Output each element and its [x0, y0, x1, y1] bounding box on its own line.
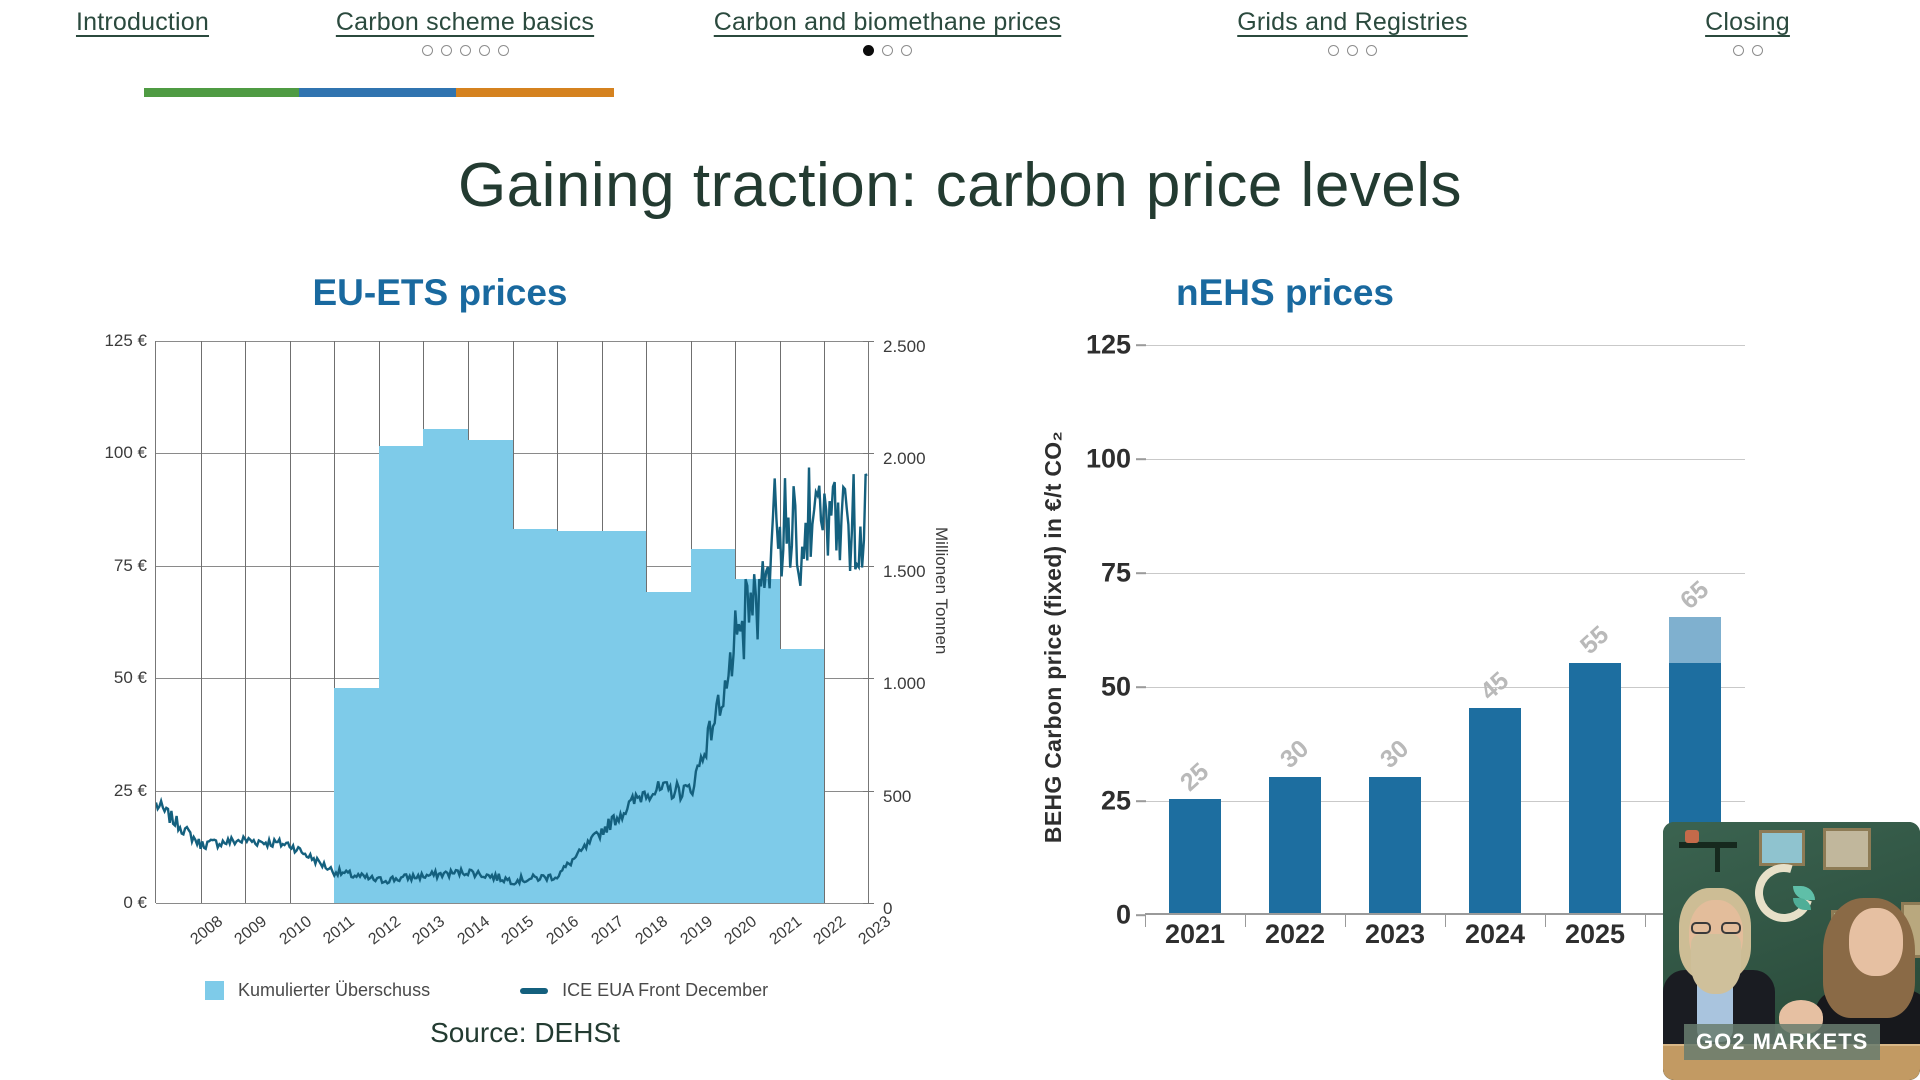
- nav-item-carbon-and-biomethane-prices[interactable]: Carbon and biomethane prices: [645, 8, 1130, 56]
- eu-y-tick-label-left: 75 €: [65, 556, 147, 576]
- shelf-leg-decor: [1715, 846, 1720, 872]
- nehs-y-tickmark: [1136, 572, 1146, 574]
- nehs-x-tick-label: 2024: [1465, 919, 1525, 950]
- eu-ets-source-note: Source: DEHSt: [205, 1017, 845, 1049]
- nav-dots-carbon-scheme-basics: [285, 45, 645, 56]
- nav-link-label[interactable]: Introduction: [0, 8, 285, 37]
- nehs-x-tick-label: 2021: [1165, 919, 1225, 950]
- nehs-bar-value-label: 45: [1475, 666, 1515, 706]
- nehs-x-tickmark: [1545, 915, 1546, 927]
- eu-y-tick-label-left: 100 €: [65, 443, 147, 463]
- eu-right-tickmark: [863, 791, 874, 792]
- eu-ets-right-axis: Millionen Tonnen 05001.0001.5002.0002.50…: [868, 341, 989, 903]
- eu-right-tickmark: [863, 453, 874, 454]
- nav-link-label[interactable]: Grids and Registries: [1130, 8, 1575, 37]
- nehs-x-tick-label: 2022: [1265, 919, 1325, 950]
- legend-swatch-kumulierter-ueberschuss: [205, 981, 224, 1000]
- nav-dot-active[interactable]: [863, 45, 874, 56]
- eu-ets-chart-title: EU-ETS prices: [190, 272, 690, 314]
- eu-x-tick-label: 2013: [410, 913, 449, 949]
- eu-y-tick-label-right: 2.000: [883, 449, 926, 469]
- eu-right-tickmark: [863, 903, 874, 904]
- eu-price-line: [156, 468, 867, 885]
- nehs-bar-value-label: 65: [1675, 575, 1715, 615]
- nehs-gridline-h: [1145, 345, 1745, 346]
- nav-dot[interactable]: [422, 45, 433, 56]
- eu-y-tick-label-left: 25 €: [65, 781, 147, 801]
- nav-link-label[interactable]: Closing: [1575, 8, 1920, 37]
- nehs-x-tickmark: [1445, 915, 1446, 927]
- nav-dot[interactable]: [479, 45, 490, 56]
- eu-ets-chart: Millionen Tonnen 05001.0001.5002.0002.50…: [65, 335, 940, 915]
- eu-y-tick-label-right: 1.500: [883, 562, 926, 582]
- nehs-bar: [1469, 708, 1521, 913]
- nehs-bar-value-label: 30: [1375, 735, 1415, 775]
- nav-dot[interactable]: [1733, 45, 1744, 56]
- nav-dot[interactable]: [1328, 45, 1339, 56]
- nehs-gridline-h: [1145, 687, 1745, 688]
- progress-segment-3: [456, 88, 614, 97]
- nehs-gridline-h: [1145, 459, 1745, 460]
- eu-x-tick-label: 2015: [499, 913, 538, 949]
- person-left-beard: [1691, 934, 1741, 994]
- top-navigation: Introduction Carbon scheme basics Carbon…: [0, 0, 1920, 70]
- eu-y-tick-label-left: 125 €: [65, 331, 147, 351]
- nehs-y-tick-label: 75: [1045, 558, 1131, 589]
- nehs-chart-title: nEHS prices: [1035, 272, 1535, 314]
- eu-y-tick-label-right: 500: [883, 787, 911, 807]
- eu-ets-right-axis-label: Millionen Tonnen: [931, 527, 951, 654]
- nav-dot[interactable]: [882, 45, 893, 56]
- eu-x-tick-label: 2021: [766, 913, 805, 949]
- eu-x-tick-label: 2008: [187, 913, 226, 949]
- nehs-bar: [1369, 777, 1421, 914]
- eu-axis-baseline: [156, 903, 868, 904]
- eu-ets-plot-area: [155, 341, 868, 903]
- nehs-x-tick-label: 2025: [1565, 919, 1625, 950]
- nav-dots-carbon-and-biomethane-prices: [645, 45, 1130, 56]
- nehs-x-tickmark: [1145, 915, 1146, 927]
- eu-y-tick-label-right: 2.500: [883, 337, 926, 357]
- legend-line-ice-eua-front-december: [520, 988, 548, 994]
- nehs-y-tick-label: 50: [1045, 672, 1131, 703]
- video-overlay[interactable]: GO2 MARKETS: [1663, 822, 1920, 1080]
- nav-dot[interactable]: [1752, 45, 1763, 56]
- eu-right-tickmark: [863, 566, 874, 567]
- nehs-x-tick-label: 2023: [1365, 919, 1425, 950]
- person-right-face: [1849, 908, 1903, 976]
- eu-x-tick-label: 2022: [811, 913, 850, 949]
- nehs-y-tickmark: [1136, 686, 1146, 688]
- nav-item-carbon-scheme-basics[interactable]: Carbon scheme basics: [285, 8, 645, 56]
- eu-x-tick-label: 2012: [365, 913, 404, 949]
- nehs-bar-cap: [1669, 617, 1721, 663]
- nav-dot[interactable]: [1347, 45, 1358, 56]
- nehs-y-tickmark: [1136, 458, 1146, 460]
- nav-dot[interactable]: [1366, 45, 1377, 56]
- nav-item-introduction[interactable]: Introduction: [0, 8, 285, 45]
- eu-y-tick-label-left: 50 €: [65, 668, 147, 688]
- nehs-y-tick-label: 25: [1045, 786, 1131, 817]
- legend-label-ice-eua-front-december: ICE EUA Front December: [562, 980, 768, 1001]
- video-caption: GO2 MARKETS: [1684, 1024, 1880, 1060]
- eu-x-tick-label: 2019: [677, 913, 716, 949]
- progress-segment-2: [299, 88, 456, 97]
- eu-x-tick-label: 2011: [320, 913, 358, 948]
- eu-y-tick-label-left: 0 €: [65, 893, 147, 913]
- eu-ets-legend: Kumulierter Überschuss ICE EUA Front Dec…: [205, 980, 845, 1001]
- section-progress-bar: [144, 88, 614, 97]
- nav-item-grids-and-registries[interactable]: Grids and Registries: [1130, 8, 1575, 56]
- nav-dots-grids-and-registries: [1130, 45, 1575, 56]
- nehs-bar-value-label: 30: [1275, 735, 1315, 775]
- eu-price-line-svg: [156, 341, 869, 903]
- nehs-x-tickmark: [1245, 915, 1246, 927]
- nehs-bar-value-label: 25: [1175, 757, 1215, 797]
- eu-x-tick-label: 2016: [544, 913, 583, 949]
- person-left-glasses-icon: [1691, 922, 1741, 934]
- nav-dots-closing: [1575, 45, 1920, 56]
- go2-logo-icon: [1755, 864, 1813, 922]
- nehs-x-tickmark: [1645, 915, 1646, 927]
- nehs-y-tick-label: 0: [1045, 900, 1131, 931]
- eu-x-tick-label: 2010: [276, 913, 315, 949]
- nav-dot[interactable]: [498, 45, 509, 56]
- eu-x-tick-label: 2017: [588, 913, 627, 949]
- eu-right-tickmark: [863, 678, 874, 679]
- legend-label-kumulierter-ueberschuss: Kumulierter Überschuss: [238, 980, 430, 1001]
- nav-dot[interactable]: [460, 45, 471, 56]
- nehs-bar: [1569, 663, 1621, 914]
- eu-x-tick-label: 2023: [855, 913, 894, 949]
- nav-link-label[interactable]: Carbon scheme basics: [285, 8, 645, 37]
- slide-title: Gaining traction: carbon price levels: [0, 150, 1920, 221]
- nehs-plot-area: 025507510012525303045555565: [1145, 345, 1745, 915]
- eu-x-tick-label: 2020: [722, 913, 761, 949]
- eu-x-tick-label: 2009: [232, 913, 271, 949]
- eu-x-tick-label: 2018: [633, 913, 672, 949]
- wall-picture-frame-1: [1759, 830, 1805, 866]
- nehs-y-tickmark: [1136, 800, 1146, 802]
- nehs-x-tickmark: [1345, 915, 1346, 927]
- nav-dot[interactable]: [441, 45, 452, 56]
- nehs-y-tick-label: 100: [1045, 444, 1131, 475]
- nehs-y-axis-label: BEHG Carbon price (fixed) in €/t CO₂: [1040, 431, 1067, 843]
- nav-link-label[interactable]: Carbon and biomethane prices: [645, 8, 1130, 37]
- nehs-gridline-h: [1145, 801, 1745, 802]
- nehs-bar: [1269, 777, 1321, 914]
- eu-x-tick-label: 2014: [454, 913, 493, 949]
- nehs-gridline-h: [1145, 573, 1745, 574]
- shelf-object-decor: [1685, 830, 1699, 843]
- nehs-bar: [1169, 799, 1221, 913]
- eu-right-tickmark: [863, 341, 874, 342]
- nehs-y-tick-label: 125: [1045, 330, 1131, 361]
- nav-item-closing[interactable]: Closing: [1575, 8, 1920, 56]
- nehs-y-tickmark: [1136, 344, 1146, 346]
- progress-segment-1: [144, 88, 299, 97]
- wall-picture-frame-2: [1823, 828, 1871, 870]
- nav-dot[interactable]: [901, 45, 912, 56]
- nehs-bar-value-label: 55: [1575, 621, 1615, 661]
- eu-y-tick-label-right: 1.000: [883, 674, 926, 694]
